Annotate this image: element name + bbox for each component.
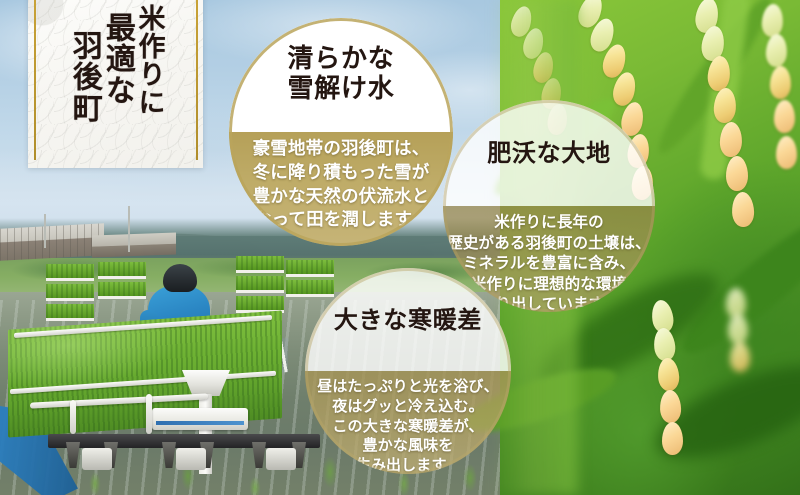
title-line-right: 米作りに [135, 4, 163, 116]
title-panel: 米作りに 最適な 羽後町 [28, 0, 203, 168]
title-line-left: 羽後町 [69, 30, 100, 124]
card-body: 昼はたっぷりと光を浴び、 夜はグッと冷え込む。 この大きな寒暖差が、 豊かな風味… [317, 377, 499, 474]
utility-pole-2 [44, 214, 46, 248]
seedling-tray [236, 276, 284, 293]
feature-card-snowmelt-water: 清らかな 雪解け水 豪雪地帯の羽後町は、 冬に降り積もった雪が 豊かな天然の伏流… [229, 18, 453, 246]
float-shoe [266, 448, 296, 470]
seedling-tray [46, 264, 94, 281]
operator-helmet [163, 264, 197, 292]
planting-claw [162, 442, 176, 468]
card-title-area: 大きな寒暖差 [305, 268, 511, 371]
console-stripe [156, 421, 244, 425]
control-console [152, 408, 248, 430]
seedling-tray [98, 262, 146, 279]
planting-unit-bar [48, 434, 320, 448]
title-line-middle: 最適な [102, 12, 133, 106]
card-title: 清らかな 雪解け水 [287, 45, 394, 104]
poster-canvas: 米作りに 最適な 羽後町 清らかな 雪解け水 豪雪地帯の羽後町は、 冬に降り積も… [0, 0, 800, 495]
feature-card-temperature-range: 大きな寒暖差 昼はたっぷりと光を浴び、 夜はグッと冷え込む。 この大きな寒暖差が… [305, 268, 511, 474]
card-body: 豪雪地帯の羽後町は、 冬に降り積もった雪が 豊かな天然の伏流水と なって田を潤し… [253, 138, 430, 233]
seedling-tray [46, 304, 94, 321]
card-title-area: 肥沃な大地 [443, 100, 655, 206]
card-title: 肥沃な大地 [487, 139, 611, 166]
float-shoe [176, 448, 206, 470]
planting-claw [252, 442, 266, 468]
planting-claw [66, 442, 80, 468]
seedling-tray [98, 282, 146, 299]
utility-pole [128, 206, 130, 252]
card-title: 大きな寒暖差 [334, 306, 482, 333]
card-body-area: 豪雪地帯の羽後町は、 冬に降り積もった雪が 豊かな天然の伏流水と なって田を潤し… [229, 132, 453, 246]
card-body-area: 昼はたっぷりと光を浴び、 夜はグッと冷え込む。 この大きな寒暖差が、 豊かな風味… [305, 371, 511, 474]
frame-post-2 [146, 394, 152, 434]
rice-planting-machine [0, 262, 320, 474]
farm-shed [0, 223, 104, 260]
farm-shed-secondary [92, 233, 176, 258]
seedling-tray [46, 284, 94, 301]
seedling-tray [236, 256, 284, 273]
float-shoe [82, 448, 112, 470]
frame-post [70, 400, 76, 434]
card-title-area: 清らかな 雪解け水 [229, 18, 453, 132]
